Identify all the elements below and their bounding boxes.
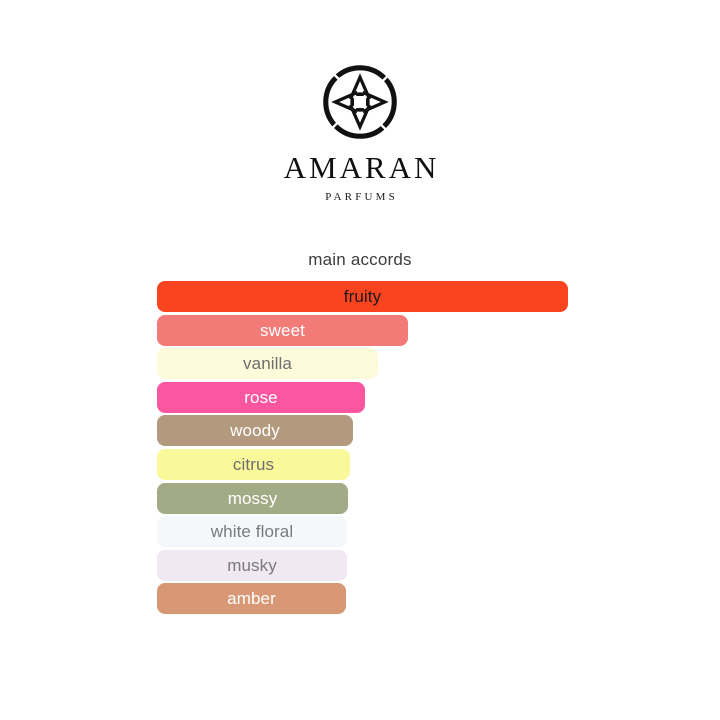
accord-bar-row: fruity xyxy=(157,281,587,315)
accord-bar-label: musky xyxy=(227,557,277,574)
accord-bar-row: rose xyxy=(157,382,587,416)
accord-bar-musky[interactable]: musky xyxy=(157,550,347,581)
accord-bar-label: sweet xyxy=(260,322,305,339)
brand-name: AMARAN xyxy=(281,152,440,183)
accord-bar-amber[interactable]: amber xyxy=(157,583,346,614)
accord-bar-label: fruity xyxy=(344,288,381,305)
accord-bar-citrus[interactable]: citrus xyxy=(157,449,350,480)
accord-bar-rose[interactable]: rose xyxy=(157,382,365,413)
chart-title: main accords xyxy=(0,250,720,270)
accord-bar-row: vanilla xyxy=(157,348,587,382)
accord-bar-fruity[interactable]: fruity xyxy=(157,281,568,312)
accord-bar-row: musky xyxy=(157,550,587,584)
brand-header: AMARAN PARFUMS xyxy=(0,62,720,203)
accord-bar-row: woody xyxy=(157,415,587,449)
accord-bar-label: rose xyxy=(244,389,277,406)
brand-tagline: PARFUMS xyxy=(322,192,398,203)
accord-bar-row: mossy xyxy=(157,483,587,517)
accord-bar-label: amber xyxy=(227,590,276,607)
accord-bar-label: mossy xyxy=(228,490,278,507)
accord-bar-row: white floral xyxy=(157,516,587,550)
accord-bar-sweet[interactable]: sweet xyxy=(157,315,408,346)
accord-bar-label: citrus xyxy=(233,456,274,473)
accord-bar-row: amber xyxy=(157,583,587,617)
amaran-octagon-emblem-icon xyxy=(314,62,406,142)
accord-bar-row: sweet xyxy=(157,315,587,349)
accord-bar-label: white floral xyxy=(211,523,293,540)
accord-bar-row: citrus xyxy=(157,449,587,483)
accord-bar-label: woody xyxy=(230,422,280,439)
accord-bar-vanilla[interactable]: vanilla xyxy=(157,348,378,379)
accord-bar-mossy[interactable]: mossy xyxy=(157,483,348,514)
main-accords-chart: fruitysweetvanillarosewoodycitrusmossywh… xyxy=(157,281,587,617)
accord-bar-white-floral[interactable]: white floral xyxy=(157,516,347,547)
accord-bar-woody[interactable]: woody xyxy=(157,415,353,446)
accord-bar-label: vanilla xyxy=(243,355,292,372)
